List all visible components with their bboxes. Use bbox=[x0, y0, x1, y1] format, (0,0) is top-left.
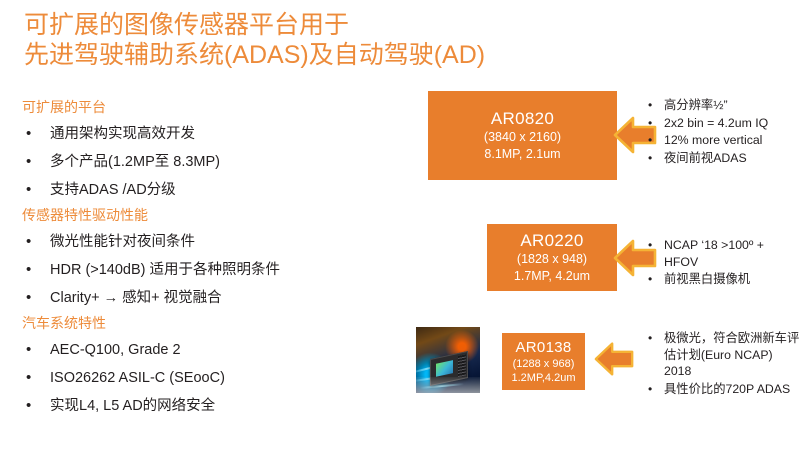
bullet-dot-icon: • bbox=[22, 256, 50, 284]
product-megapixels: 1.2MP,4.2um bbox=[511, 371, 575, 385]
list-item-label: NCAP ‘18 >100º + HFOV bbox=[664, 237, 800, 270]
list-item: • 多个产品(1.2MP至 8.3MP) bbox=[22, 148, 422, 176]
list-item-label: 通用架构实现高效开发 bbox=[50, 120, 422, 148]
bullet-dot-icon: • bbox=[648, 237, 664, 254]
list-item-label: 12% more vertical bbox=[664, 132, 798, 149]
list-item-label: 微光性能针对夜间条件 bbox=[50, 228, 422, 256]
list-item-label: 2x2 bin = 4.2um IQ bbox=[664, 115, 798, 132]
product-features-ar0220: • NCAP ‘18 >100º + HFOV • 前视黑白摄像机 bbox=[648, 237, 800, 289]
list-item: • ISO26262 ASIL-C (SEooC) bbox=[22, 364, 422, 392]
list-item-label: 高分辨率½” bbox=[664, 97, 798, 114]
product-resolution: (1828 x 948) bbox=[517, 251, 587, 268]
product-name: AR0820 bbox=[491, 108, 554, 129]
list-item-label: AEC-Q100, Grade 2 bbox=[50, 336, 422, 364]
sensor-die bbox=[436, 360, 453, 377]
bullet-dot-icon: • bbox=[22, 336, 50, 364]
photo-reflection bbox=[416, 377, 480, 393]
list-item: • 高分辨率½” bbox=[648, 97, 798, 114]
product-features-ar0820: • 高分辨率½” • 2x2 bin = 4.2um IQ • 12% more… bbox=[648, 97, 798, 167]
list-item-label: HDR (>140dB) 适用于各种照明条件 bbox=[50, 256, 422, 284]
product-megapixels: 1.7MP, 4.2um bbox=[514, 268, 590, 285]
bullet-dot-icon: • bbox=[22, 228, 50, 256]
list-item: • 支持ADAS /AD分级 bbox=[22, 176, 422, 204]
bullet-dot-icon: • bbox=[648, 381, 664, 398]
product-name: AR0220 bbox=[520, 230, 583, 251]
list-item: • 12% more vertical bbox=[648, 132, 798, 149]
list-item: • 实现L4, L5 AD的网络安全 bbox=[22, 392, 422, 420]
page-title-line-1: 可扩展的图像传感器平台用于 bbox=[24, 10, 764, 40]
product-box-ar0138: AR0138 (1288 x 968) 1.2MP,4.2um bbox=[502, 333, 585, 390]
product-box-ar0220: AR0220 (1828 x 948) 1.7MP, 4.2um bbox=[487, 224, 617, 291]
feature-section-sensor-performance: 传感器特性驱动性能 • 微光性能针对夜间条件 • HDR (>140dB) 适用… bbox=[22, 204, 422, 312]
list-item-label: 支持ADAS /AD分级 bbox=[50, 176, 422, 204]
bullet-dot-icon: • bbox=[648, 115, 664, 132]
product-box-ar0820: AR0820 (3840 x 2160) 8.1MP, 2.1um bbox=[428, 91, 617, 180]
product-name: AR0138 bbox=[515, 338, 571, 357]
feature-section-scalable-platform: 可扩展的平台 • 通用架构实现高效开发 • 多个产品(1.2MP至 8.3MP)… bbox=[22, 96, 422, 204]
bullet-dot-icon: • bbox=[648, 97, 664, 114]
bullet-dot-icon: • bbox=[648, 271, 664, 288]
list-item-label: 实现L4, L5 AD的网络安全 bbox=[50, 392, 422, 420]
list-item-label: 前视黑白摄像机 bbox=[664, 271, 800, 288]
sensor-pins bbox=[458, 354, 466, 377]
list-item: • NCAP ‘18 >100º + HFOV bbox=[648, 237, 800, 270]
bullet-dot-icon: • bbox=[22, 364, 50, 392]
list-item: • Clarity+ → 感知+ 视觉融合 bbox=[22, 284, 422, 312]
bullet-dot-icon: • bbox=[22, 176, 50, 204]
list-item: • 前视黑白摄像机 bbox=[648, 271, 800, 288]
feature-section-automotive-system: 汽车系统特性 • AEC-Q100, Grade 2 • ISO26262 AS… bbox=[22, 312, 422, 420]
product-features-ar0138: • 极微光，符合欧洲新车评估计划(Euro NCAP) 2018 • 具性价比的… bbox=[648, 330, 800, 398]
list-item: • 2x2 bin = 4.2um IQ bbox=[648, 115, 798, 132]
list-item-label: 极微光，符合欧洲新车评估计划(Euro NCAP) 2018 bbox=[664, 330, 800, 380]
page-title-line-2: 先进驾驶辅助系统(ADAS)及自动驾驶(AD) bbox=[24, 40, 764, 70]
bullet-dot-icon: • bbox=[22, 284, 50, 312]
list-item: • 通用架构实现高效开发 bbox=[22, 120, 422, 148]
list-item-label: 具性价比的720P ADAS bbox=[664, 381, 800, 398]
bullet-dot-icon: • bbox=[22, 148, 50, 176]
product-resolution: (3840 x 2160) bbox=[484, 129, 561, 146]
bullet-dot-icon: • bbox=[648, 132, 664, 149]
list-item-label: Clarity+ → 感知+ 视觉融合 bbox=[50, 284, 422, 312]
list-item: • HDR (>140dB) 适用于各种照明条件 bbox=[22, 256, 422, 284]
bullet-dot-icon: • bbox=[648, 330, 664, 347]
list-item: • 极微光，符合欧洲新车评估计划(Euro NCAP) 2018 bbox=[648, 330, 800, 380]
bullet-dot-icon: • bbox=[22, 392, 50, 420]
section-heading: 汽车系统特性 bbox=[22, 312, 422, 335]
section-heading: 传感器特性驱动性能 bbox=[22, 204, 422, 227]
left-arrow-icon-ar0138 bbox=[594, 340, 634, 378]
list-item-label: ISO26262 ASIL-C (SEooC) bbox=[50, 364, 422, 392]
section-heading: 可扩展的平台 bbox=[22, 96, 422, 119]
list-item-label: 多个产品(1.2MP至 8.3MP) bbox=[50, 148, 422, 176]
bullet-dot-icon: • bbox=[648, 150, 664, 167]
bullet-dot-icon: • bbox=[22, 120, 50, 148]
list-item: • 具性价比的720P ADAS bbox=[648, 381, 800, 398]
automotive-sensor-photo bbox=[416, 327, 480, 393]
features-column: 可扩展的平台 • 通用架构实现高效开发 • 多个产品(1.2MP至 8.3MP)… bbox=[22, 96, 422, 420]
list-item: • 微光性能针对夜间条件 bbox=[22, 228, 422, 256]
list-item-label: 夜间前视ADAS bbox=[664, 150, 798, 167]
page-title: 可扩展的图像传感器平台用于 先进驾驶辅助系统(ADAS)及自动驾驶(AD) bbox=[24, 10, 764, 70]
list-item: • AEC-Q100, Grade 2 bbox=[22, 336, 422, 364]
product-resolution: (1288 x 968) bbox=[513, 357, 575, 371]
product-megapixels: 8.1MP, 2.1um bbox=[484, 146, 560, 163]
list-item: • 夜间前视ADAS bbox=[648, 150, 798, 167]
